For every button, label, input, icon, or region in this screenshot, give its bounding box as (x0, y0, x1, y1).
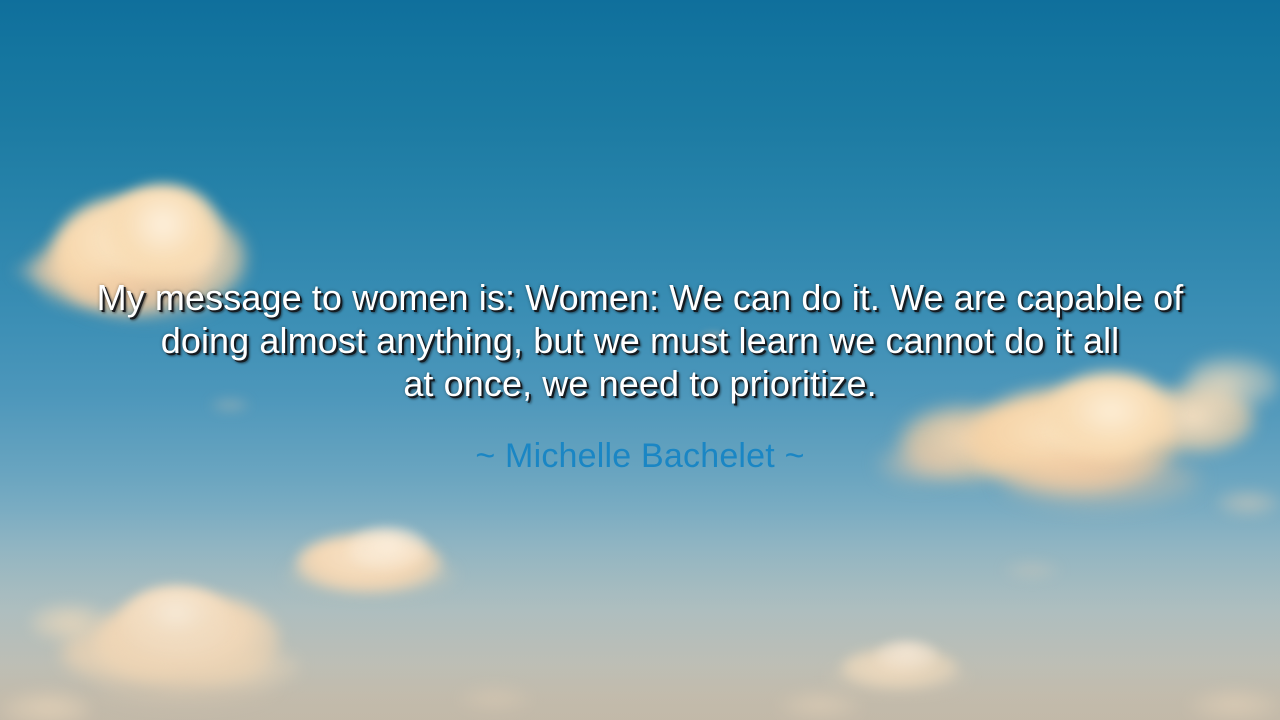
quote-attribution: ~ Michelle Bachelet ~ (0, 436, 1280, 476)
quote-block: My message to women is: Women: We can do… (0, 276, 1280, 405)
quote-image-canvas: My message to women is: Women: We can do… (0, 0, 1280, 720)
quote-text: My message to women is: Women: We can do… (18, 276, 1262, 405)
